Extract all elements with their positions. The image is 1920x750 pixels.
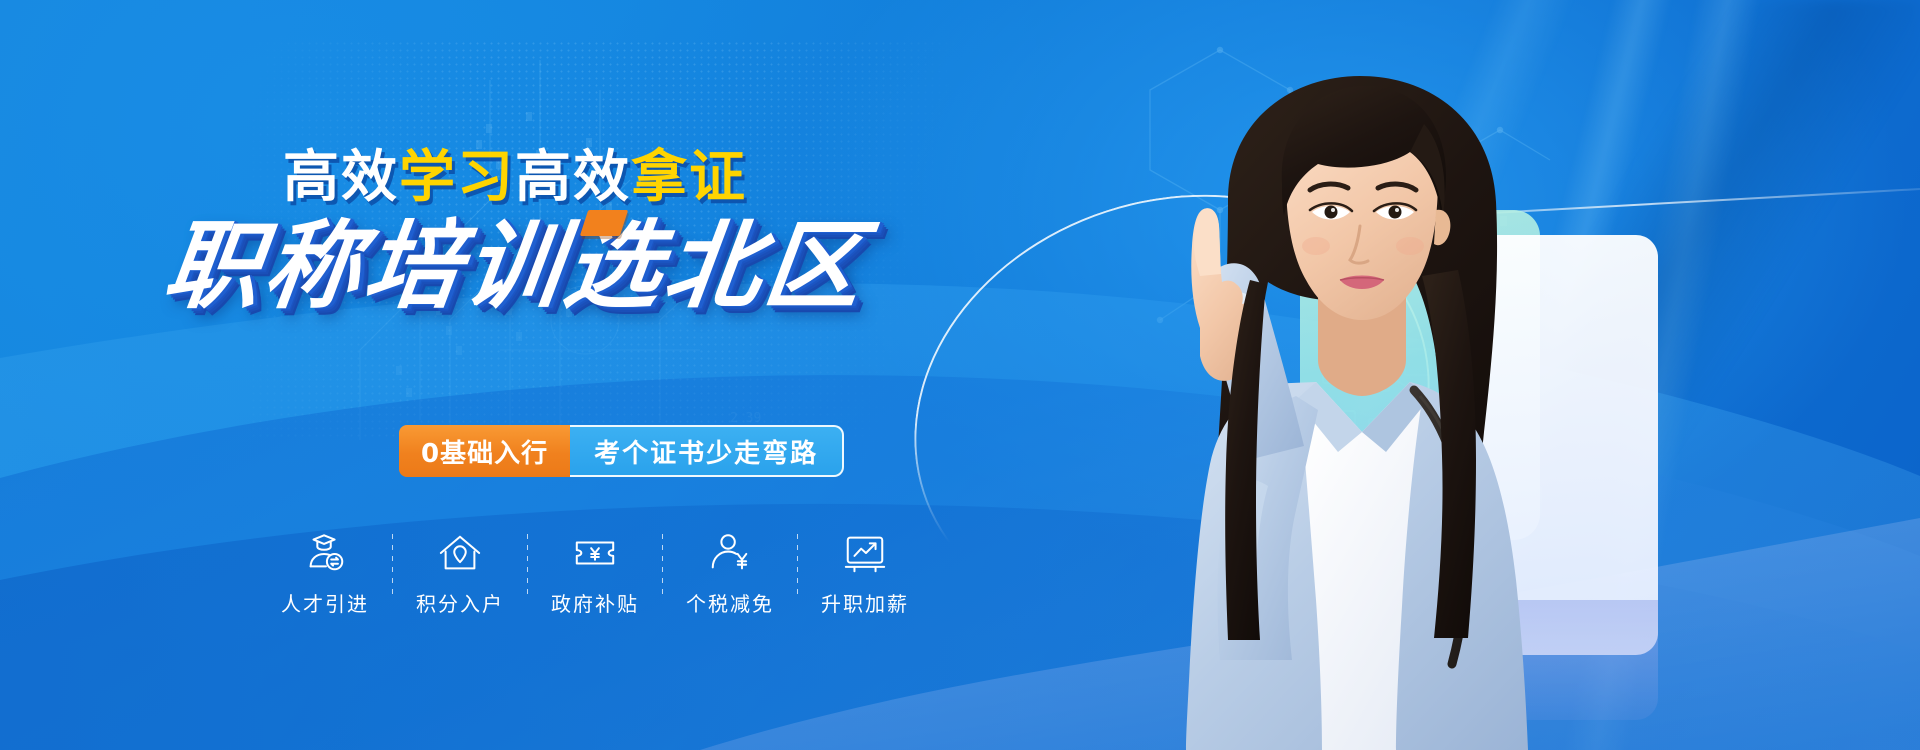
promo-banner: 2 39 bbox=[0, 0, 1920, 750]
promo-badge: 0基础入行 考个证书少走弯路 bbox=[399, 425, 844, 477]
house-location-pin-icon bbox=[437, 530, 483, 576]
feature-label: 升职加薪 bbox=[821, 588, 909, 617]
orange-accent-slash-icon bbox=[580, 210, 628, 236]
feature-list: 人才引进 积分入户 bbox=[258, 530, 932, 617]
banner-content: 高效学习高效拿证 职称培训选北区 0基础入行 考个证书少走弯路 bbox=[0, 0, 1030, 750]
feature-item-tax-reduction[interactable]: 个税减免 bbox=[663, 530, 797, 617]
headline-top-segment-1: 高效 bbox=[283, 145, 399, 210]
headline-top-segment-4: 拿证 bbox=[631, 145, 747, 210]
headline-main-wrapper: 职称培训选北区 bbox=[0, 218, 1030, 314]
headline-main: 职称培训选北区 bbox=[159, 218, 871, 314]
woman-pointing-up-photo bbox=[1060, 60, 1620, 750]
badge-left-label: 0基础入行 bbox=[399, 425, 570, 477]
growth-chart-board-icon bbox=[842, 530, 888, 576]
feature-item-government-subsidy[interactable]: 政府补贴 bbox=[528, 530, 662, 617]
feature-item-talent-introduction[interactable]: 人才引进 bbox=[258, 530, 392, 617]
feature-item-promotion-raise[interactable]: 升职加薪 bbox=[798, 530, 932, 617]
feature-label: 政府补贴 bbox=[551, 588, 639, 617]
feature-label: 个税减免 bbox=[686, 588, 774, 617]
person-yuan-icon bbox=[707, 530, 753, 576]
headline-top: 高效学习高效拿证 bbox=[0, 150, 1030, 206]
graduate-person-exchange-icon bbox=[302, 530, 348, 576]
headline-top-segment-2: 学习 bbox=[399, 145, 515, 210]
feature-item-points-residency[interactable]: 积分入户 bbox=[393, 530, 527, 617]
ticket-yuan-icon bbox=[572, 530, 618, 576]
hero-imagery-cluster bbox=[1000, 0, 1920, 750]
feature-label: 人才引进 bbox=[281, 588, 369, 617]
badge-right-label: 考个证书少走弯路 bbox=[570, 425, 844, 477]
headline-top-segment-3: 高效 bbox=[515, 145, 631, 210]
feature-label: 积分入户 bbox=[416, 588, 504, 617]
